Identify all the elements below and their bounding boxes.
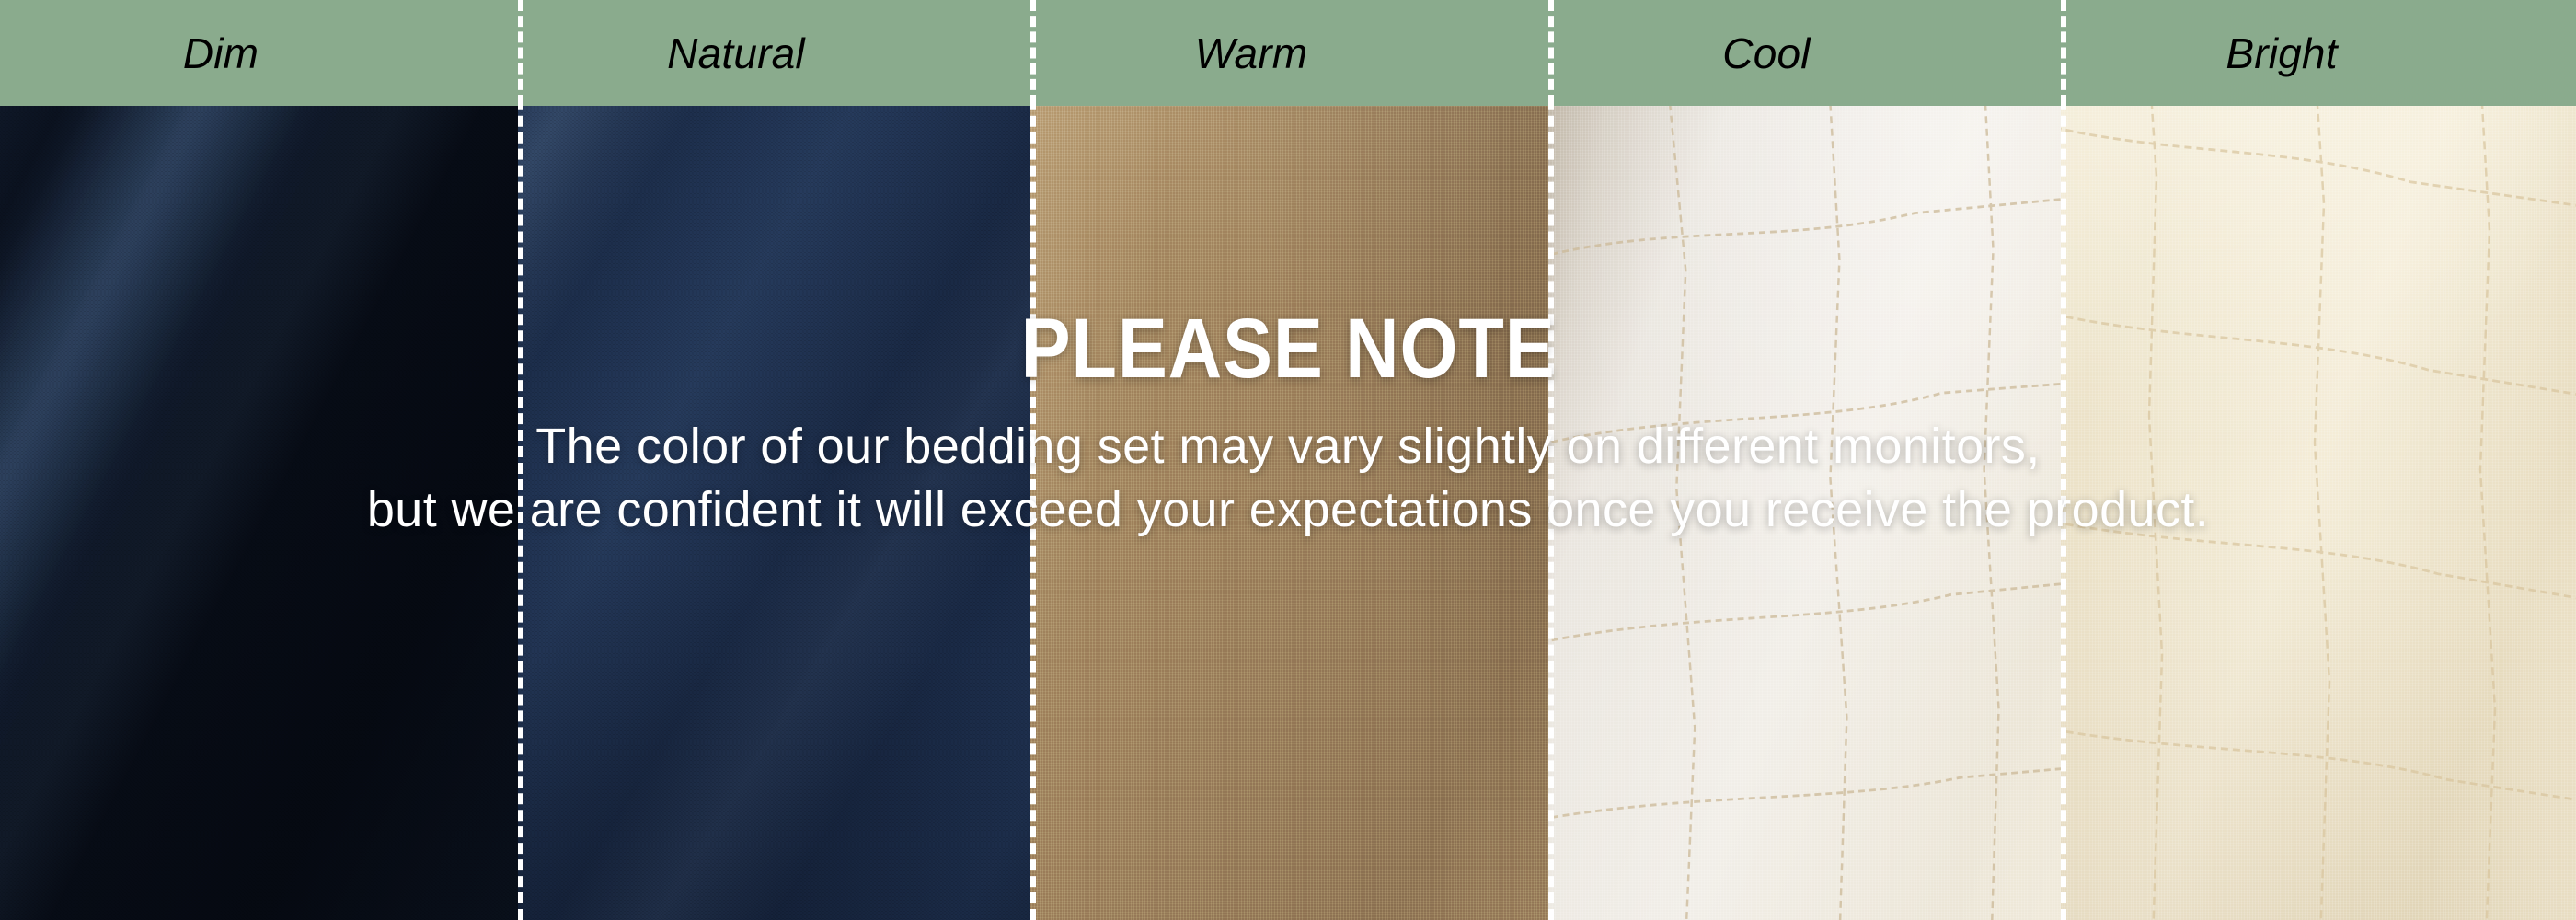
fabric-panel-dim xyxy=(0,0,518,920)
header-cell-bright: Bright xyxy=(2061,0,2576,106)
fabric-texture-warm xyxy=(1030,0,1548,920)
panel-divider-2 xyxy=(1030,0,1036,920)
header-divider-3 xyxy=(1548,0,1554,106)
quilt-stitching-cool xyxy=(1548,0,2061,920)
fabric-texture-dim xyxy=(0,0,518,920)
header-divider-1 xyxy=(518,0,523,106)
fabric-texture-natural xyxy=(518,0,1030,920)
header-label-cool: Cool xyxy=(1722,29,1810,78)
header-cell-natural: Natural xyxy=(515,0,1030,106)
header-divider-4 xyxy=(2061,0,2066,106)
fabric-panel-cool xyxy=(1548,0,2061,920)
header-cell-warm: Warm xyxy=(1030,0,1546,106)
panel-divider-3 xyxy=(1548,0,1554,920)
header-label-natural: Natural xyxy=(667,29,805,78)
header-label-bright: Bright xyxy=(2225,29,2337,78)
quilt-stitching-bright xyxy=(2061,0,2576,920)
header-label-dim: Dim xyxy=(183,29,259,78)
panel-divider-4 xyxy=(2061,0,2066,920)
panel-divider-1 xyxy=(518,0,523,920)
header-cell-dim: Dim xyxy=(0,0,515,106)
lighting-mode-header: Dim Natural Warm Cool Bright xyxy=(0,0,2576,106)
fabric-panel-warm xyxy=(1030,0,1548,920)
header-label-warm: Warm xyxy=(1195,29,1308,78)
color-variance-banner: Dim Natural Warm Cool Bright PLEASE NOTE… xyxy=(0,0,2576,920)
header-divider-2 xyxy=(1030,0,1036,106)
header-cell-cool: Cool xyxy=(1546,0,2061,106)
fabric-panel-strip xyxy=(0,0,2576,920)
fabric-panel-natural xyxy=(518,0,1030,920)
fabric-panel-bright xyxy=(2061,0,2576,920)
